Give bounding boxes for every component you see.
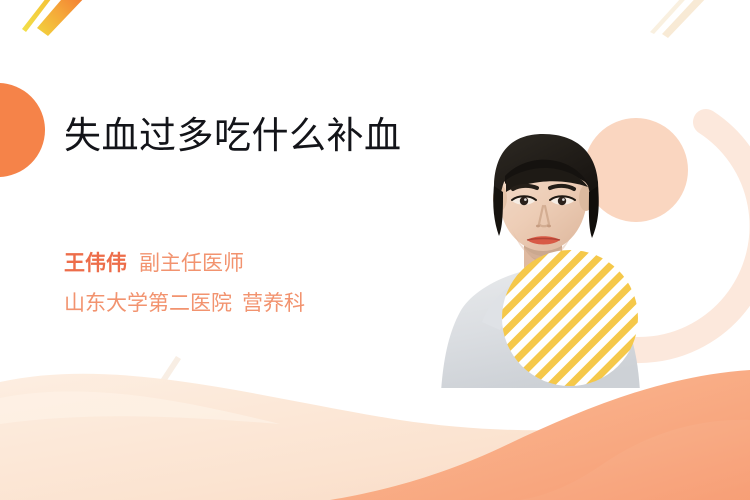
yellow-striped-circle bbox=[502, 250, 638, 386]
foreground-decoration bbox=[0, 0, 750, 500]
doctor-info-card: 失血过多吃什么补血 王伟伟副主任医师 山东大学第二医院营养科 bbox=[0, 0, 750, 500]
